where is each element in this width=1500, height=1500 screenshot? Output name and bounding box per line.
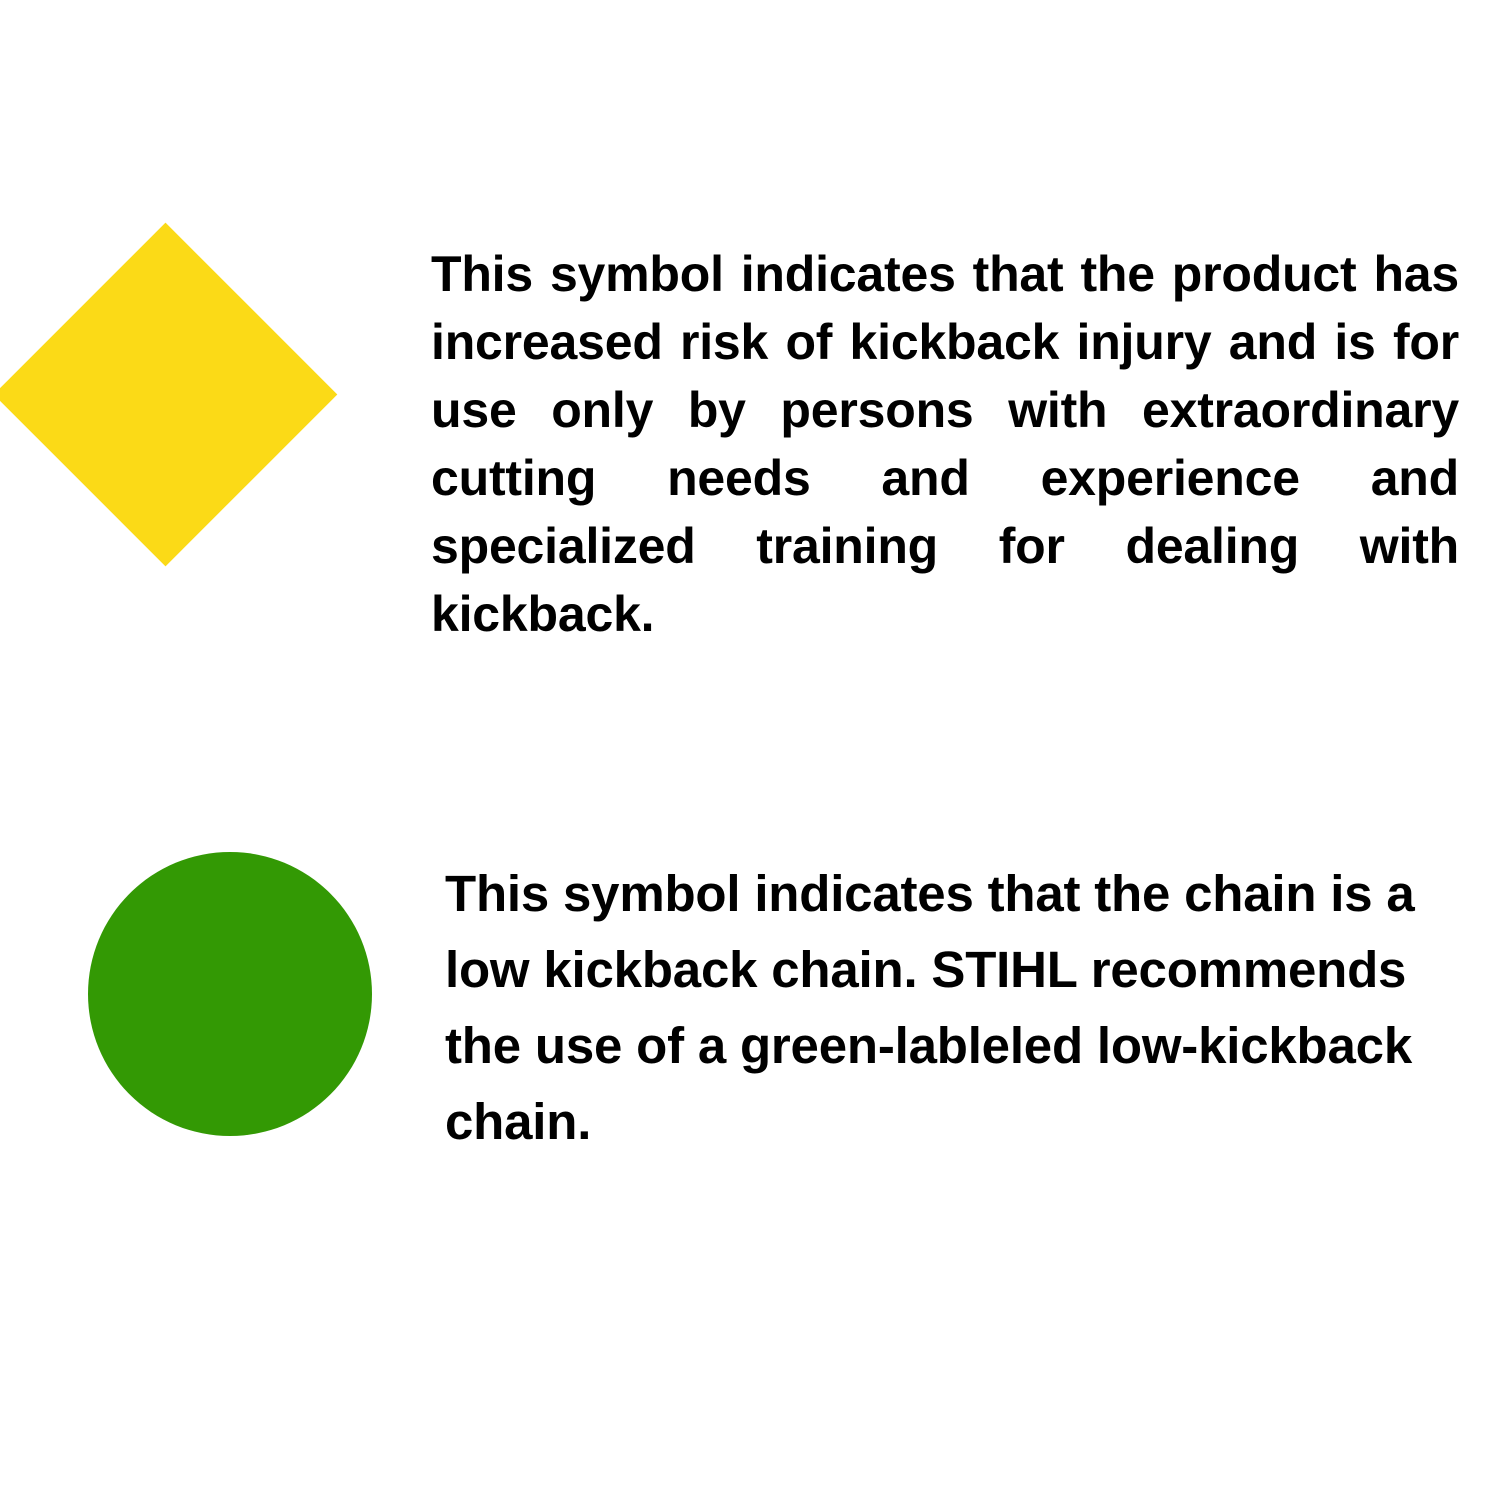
green-circle-symbol	[88, 852, 372, 1136]
low-kickback-chain-text: This symbol indicates that the chain is …	[445, 856, 1485, 1160]
yellow-diamond-symbol	[0, 223, 337, 567]
informational-page: This symbol indicates that the product h…	[0, 0, 1500, 1500]
kickback-warning-text: This symbol indicates that the product h…	[431, 240, 1459, 648]
